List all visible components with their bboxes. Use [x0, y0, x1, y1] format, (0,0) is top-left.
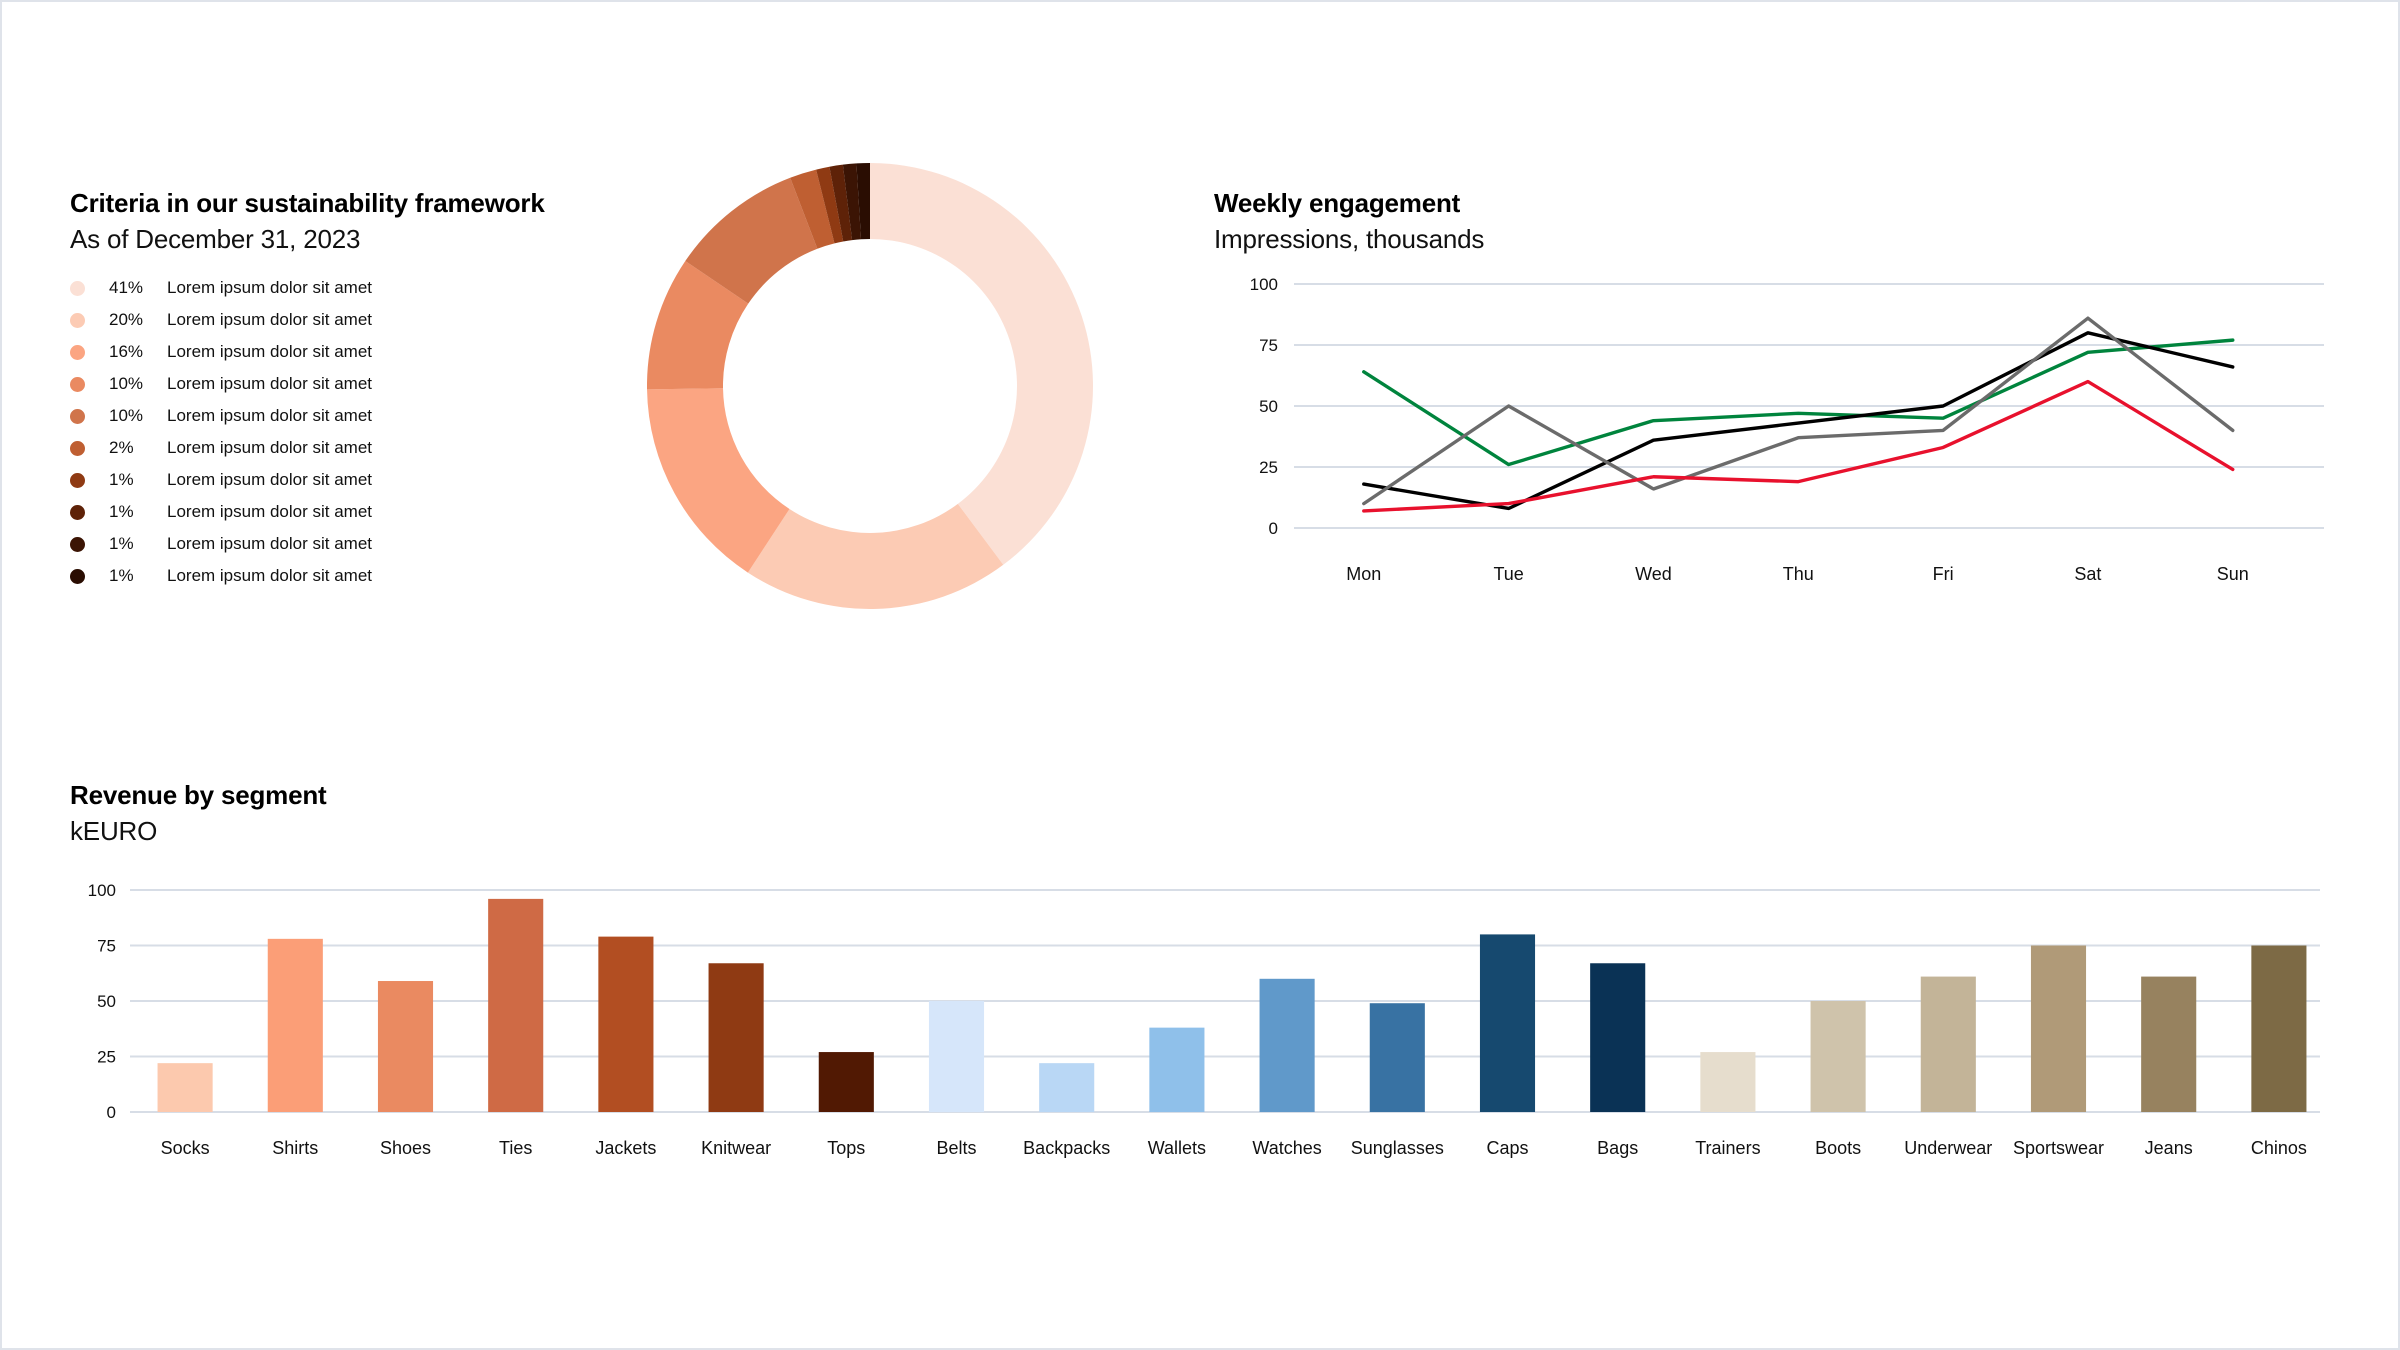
legend-item[interactable]: 2%Lorem ipsum dolor sit amet — [70, 432, 372, 464]
legend-label: Lorem ipsum dolor sit amet — [167, 566, 372, 586]
y-axis-tick-label: 25 — [1259, 458, 1278, 477]
legend-label: Lorem ipsum dolor sit amet — [167, 310, 372, 330]
x-axis-tick-label: Watches — [1252, 1138, 1321, 1158]
legend-color-swatch — [70, 537, 85, 552]
legend-label: Lorem ipsum dolor sit amet — [167, 406, 372, 426]
x-axis-tick-label: Ties — [499, 1138, 532, 1158]
legend-percent: 16% — [109, 342, 167, 362]
y-axis-tick-label: 25 — [97, 1048, 116, 1067]
legend-color-swatch — [70, 281, 85, 296]
legend-label: Lorem ipsum dolor sit amet — [167, 470, 372, 490]
x-axis-tick-label: Wallets — [1148, 1138, 1206, 1158]
x-axis-tick-label: Underwear — [1904, 1138, 1992, 1158]
y-axis-tick-label: 50 — [1259, 397, 1278, 416]
x-axis-tick-label: Sat — [2074, 564, 2101, 584]
legend-color-swatch — [70, 345, 85, 360]
legend-color-swatch — [70, 313, 85, 328]
bar[interactable] — [2031, 946, 2086, 1113]
x-axis-tick-label: Thu — [1783, 564, 1814, 584]
legend-color-swatch — [70, 473, 85, 488]
bar[interactable] — [598, 937, 653, 1112]
bar[interactable] — [1700, 1052, 1755, 1112]
legend-percent: 1% — [109, 534, 167, 554]
bar[interactable] — [488, 899, 543, 1112]
legend-item[interactable]: 10%Lorem ipsum dolor sit amet — [70, 400, 372, 432]
bar[interactable] — [1590, 963, 1645, 1112]
x-axis-tick-label: Sunglasses — [1351, 1138, 1444, 1158]
legend-item[interactable]: 1%Lorem ipsum dolor sit amet — [70, 528, 372, 560]
bar[interactable] — [378, 981, 433, 1112]
bar-chart: 0255075100SocksShirtsShoesTiesJacketsKni… — [70, 876, 2340, 1176]
x-axis-tick-label: Wed — [1635, 564, 1672, 584]
legend-item[interactable]: 1%Lorem ipsum dolor sit amet — [70, 464, 372, 496]
legend-color-swatch — [70, 377, 85, 392]
legend-label: Lorem ipsum dolor sit amet — [167, 502, 372, 522]
bar[interactable] — [1811, 1001, 1866, 1112]
dashboard-canvas: Criteria in our sustainability framework… — [0, 0, 2400, 1350]
x-axis-tick-label: Tops — [827, 1138, 865, 1158]
y-axis-tick-label: 0 — [1269, 519, 1278, 538]
legend-label: Lorem ipsum dolor sit amet — [167, 342, 372, 362]
bar[interactable] — [1480, 934, 1535, 1112]
bar[interactable] — [1921, 977, 1976, 1112]
legend-color-swatch — [70, 505, 85, 520]
x-axis-tick-label: Chinos — [2251, 1138, 2307, 1158]
bar[interactable] — [819, 1052, 874, 1112]
x-axis-tick-label: Boots — [1815, 1138, 1861, 1158]
bar[interactable] — [1370, 1003, 1425, 1112]
legend-item[interactable]: 20%Lorem ipsum dolor sit amet — [70, 304, 372, 336]
line-series[interactable] — [1364, 382, 2233, 511]
x-axis-tick-label: Sportswear — [2013, 1138, 2104, 1158]
legend-percent: 1% — [109, 566, 167, 586]
donut-segment[interactable] — [870, 163, 1093, 565]
x-axis-tick-label: Mon — [1346, 564, 1381, 584]
bar-panel-title: Revenue by segment — [70, 780, 327, 811]
legend-percent: 2% — [109, 438, 167, 458]
donut-segment[interactable] — [748, 504, 1003, 609]
legend-label: Lorem ipsum dolor sit amet — [167, 438, 372, 458]
bar[interactable] — [1149, 1028, 1204, 1112]
donut-legend: 41%Lorem ipsum dolor sit amet20%Lorem ip… — [70, 272, 372, 592]
x-axis-tick-label: Tue — [1493, 564, 1523, 584]
bar-panel-header: Revenue by segment kEURO — [70, 780, 327, 846]
legend-percent: 20% — [109, 310, 167, 330]
y-axis-tick-label: 100 — [88, 881, 116, 900]
x-axis-tick-label: Sun — [2217, 564, 2249, 584]
x-axis-tick-label: Shoes — [380, 1138, 431, 1158]
bar[interactable] — [268, 939, 323, 1112]
legend-percent: 1% — [109, 502, 167, 522]
legend-item[interactable]: 1%Lorem ipsum dolor sit amet — [70, 496, 372, 528]
y-axis-tick-label: 50 — [97, 992, 116, 1011]
legend-item[interactable]: 41%Lorem ipsum dolor sit amet — [70, 272, 372, 304]
y-axis-tick-label: 75 — [1259, 336, 1278, 355]
bar[interactable] — [929, 1001, 984, 1112]
line-panel-header: Weekly engagement Impressions, thousands — [1214, 188, 1484, 254]
legend-label: Lorem ipsum dolor sit amet — [167, 278, 372, 298]
x-axis-tick-label: Backpacks — [1023, 1138, 1110, 1158]
legend-label: Lorem ipsum dolor sit amet — [167, 374, 372, 394]
legend-color-swatch — [70, 441, 85, 456]
x-axis-tick-label: Fri — [1933, 564, 1954, 584]
x-axis-tick-label: Caps — [1486, 1138, 1528, 1158]
line-panel-subtitle: Impressions, thousands — [1214, 224, 1484, 255]
x-axis-tick-label: Jeans — [2145, 1138, 2193, 1158]
line-panel-title: Weekly engagement — [1214, 188, 1484, 219]
y-axis-tick-label: 75 — [97, 937, 116, 956]
legend-label: Lorem ipsum dolor sit amet — [167, 534, 372, 554]
bar[interactable] — [1260, 979, 1315, 1112]
legend-item[interactable]: 10%Lorem ipsum dolor sit amet — [70, 368, 372, 400]
legend-percent: 10% — [109, 406, 167, 426]
line-chart: 0255075100MonTueWedThuFriSatSun — [1214, 270, 2334, 640]
x-axis-tick-label: Shirts — [272, 1138, 318, 1158]
x-axis-tick-label: Bags — [1597, 1138, 1638, 1158]
legend-color-swatch — [70, 409, 85, 424]
bar[interactable] — [158, 1063, 213, 1112]
x-axis-tick-label: Trainers — [1695, 1138, 1760, 1158]
x-axis-tick-label: Socks — [161, 1138, 210, 1158]
x-axis-tick-label: Belts — [936, 1138, 976, 1158]
bar[interactable] — [2141, 977, 2196, 1112]
y-axis-tick-label: 0 — [107, 1103, 116, 1122]
bar-panel-subtitle: kEURO — [70, 816, 327, 847]
line-series[interactable] — [1364, 340, 2233, 464]
donut-chart — [610, 126, 1130, 646]
bar[interactable] — [709, 963, 764, 1112]
legend-color-swatch — [70, 569, 85, 584]
bar[interactable] — [1039, 1063, 1094, 1112]
x-axis-tick-label: Knitwear — [701, 1138, 771, 1158]
legend-item[interactable]: 16%Lorem ipsum dolor sit amet — [70, 336, 372, 368]
legend-percent: 10% — [109, 374, 167, 394]
legend-percent: 1% — [109, 470, 167, 490]
legend-percent: 41% — [109, 278, 167, 298]
y-axis-tick-label: 100 — [1250, 275, 1278, 294]
bar[interactable] — [2251, 946, 2306, 1113]
x-axis-tick-label: Jackets — [595, 1138, 656, 1158]
legend-item[interactable]: 1%Lorem ipsum dolor sit amet — [70, 560, 372, 592]
